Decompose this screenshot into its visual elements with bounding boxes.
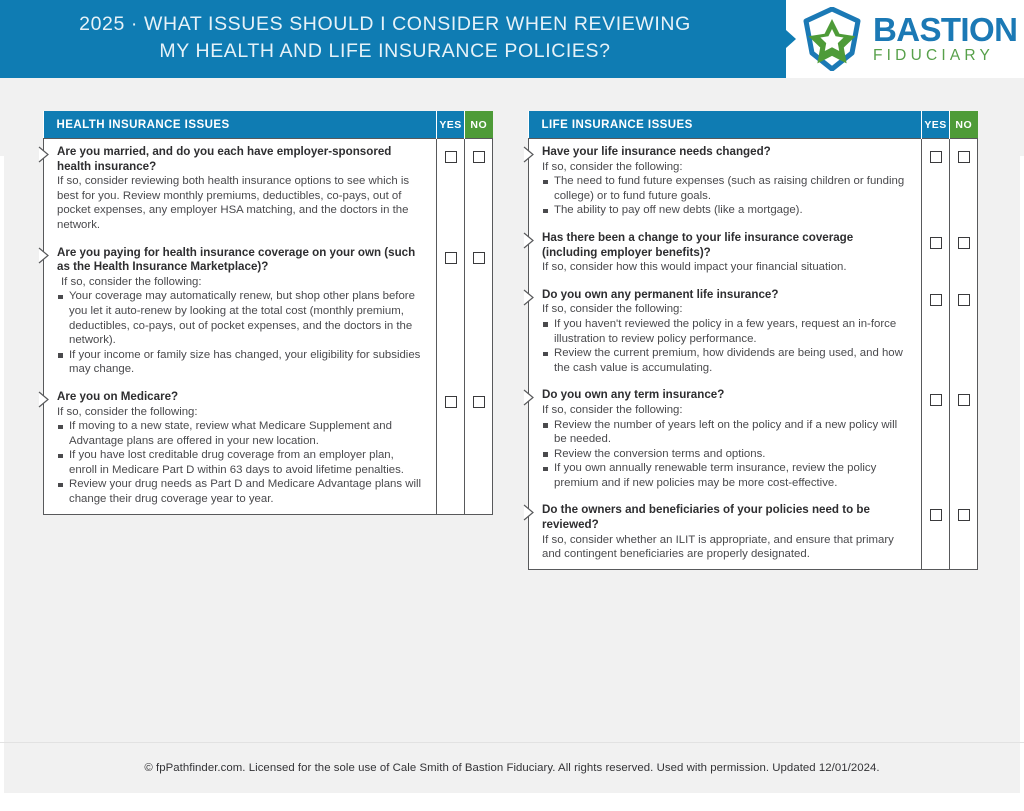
list-item: Review the number of years left on the p… [542, 418, 909, 447]
question-lead: If so, consider reviewing both health in… [57, 174, 424, 232]
checkbox-yes[interactable] [930, 509, 942, 521]
yes-checkbox-cell[interactable] [922, 497, 950, 569]
table-row: Has there been a change to your life ins… [529, 225, 978, 282]
table-header-row: HEALTH INSURANCE ISSUES YES NO [44, 111, 493, 139]
column-header-issue: LIFE INSURANCE ISSUES [529, 111, 922, 139]
question-cell: Do the owners and beneficiaries of your … [529, 497, 922, 569]
column-header-yes: YES [922, 111, 950, 139]
question-lead: If so, consider the following: [542, 302, 909, 317]
checkbox-yes[interactable] [930, 237, 942, 249]
table-row: Are you paying for health insurance cove… [44, 240, 493, 384]
question-title: Are you paying for health insurance cove… [57, 246, 424, 275]
chevron-right-icon [522, 146, 535, 163]
chevron-right-icon [37, 146, 50, 163]
no-checkbox-cell[interactable] [465, 139, 493, 240]
checkbox-no[interactable] [958, 151, 970, 163]
checklist-body: HEALTH INSURANCE ISSUES YES NO [0, 78, 1024, 733]
question-cell: Do you own any term insurance? If so, co… [529, 382, 922, 497]
checkbox-no[interactable] [958, 394, 970, 406]
checkbox-yes[interactable] [930, 151, 942, 163]
question-lead: If so, consider the following: [542, 403, 909, 418]
logo-wordmark: BASTION FIDUCIARY [873, 13, 1017, 65]
no-checkbox-cell[interactable] [950, 497, 978, 569]
logo-brand-name: BASTION [873, 13, 1017, 46]
question-cell: Do you own any permanent life insurance?… [529, 282, 922, 383]
question-cell: Are you paying for health insurance cove… [44, 240, 437, 384]
question-bullet-list: If moving to a new state, review what Me… [57, 419, 424, 507]
yes-checkbox-cell[interactable] [437, 384, 465, 514]
logo-brand-subtitle: FIDUCIARY [873, 46, 1017, 65]
checklist-page: 2025 · WHAT ISSUES SHOULD I CONSIDER WHE… [0, 0, 1024, 793]
health-insurance-column: HEALTH INSURANCE ISSUES YES NO [43, 111, 492, 515]
yes-checkbox-cell[interactable] [437, 240, 465, 384]
question-cell: Have your life insurance needs changed? … [529, 139, 922, 225]
list-item: Review your drug needs as Part D and Med… [57, 477, 424, 506]
table-row: Are you married, and do you each have em… [44, 139, 493, 240]
chevron-right-icon [522, 504, 535, 521]
star-shield-icon [800, 7, 864, 71]
checkbox-no[interactable] [473, 151, 485, 163]
checkbox-yes[interactable] [445, 396, 457, 408]
table-row: Do you own any term insurance? If so, co… [529, 382, 978, 497]
table-row: Do the owners and beneficiaries of your … [529, 497, 978, 569]
question-lead: If so, consider the following: [57, 405, 424, 420]
no-checkbox-cell[interactable] [950, 282, 978, 383]
checkbox-no[interactable] [473, 252, 485, 264]
checkbox-no[interactable] [958, 237, 970, 249]
no-checkbox-cell[interactable] [950, 225, 978, 282]
question-title: Do you own any permanent life insurance? [542, 288, 909, 303]
column-header-no: NO [950, 111, 978, 139]
checkbox-yes[interactable] [445, 252, 457, 264]
column-header-yes: YES [437, 111, 465, 139]
no-checkbox-cell[interactable] [465, 384, 493, 514]
question-title: Are you married, and do you each have em… [57, 145, 424, 174]
no-checkbox-cell[interactable] [950, 382, 978, 497]
question-title: Are you on Medicare? [57, 390, 424, 405]
question-title: Do the owners and beneficiaries of your … [542, 503, 909, 532]
list-item: The ability to pay off new debts (like a… [542, 203, 909, 218]
question-bullet-list: The need to fund future expenses (such a… [542, 174, 909, 218]
yes-checkbox-cell[interactable] [437, 139, 465, 240]
checkbox-no[interactable] [958, 509, 970, 521]
table-header-row: LIFE INSURANCE ISSUES YES NO [529, 111, 978, 139]
question-title: Has there been a change to your life ins… [542, 231, 909, 260]
no-checkbox-cell[interactable] [950, 139, 978, 225]
bastion-fiduciary-logo: BASTION FIDUCIARY [800, 4, 1016, 74]
question-lead: If so, consider the following: [57, 275, 424, 290]
health-insurance-table: HEALTH INSURANCE ISSUES YES NO [43, 111, 493, 515]
header-notch [786, 30, 796, 48]
column-header-no: NO [465, 111, 493, 139]
table-row: Have your life insurance needs changed? … [529, 139, 978, 225]
question-cell: Are you married, and do you each have em… [44, 139, 437, 240]
list-item: If you haven't reviewed the policy in a … [542, 317, 909, 346]
chevron-right-icon [37, 391, 50, 408]
life-rows-body: Have your life insurance needs changed? … [529, 139, 978, 570]
question-cell: Are you on Medicare? If so, consider the… [44, 384, 437, 514]
list-item: The need to fund future expenses (such a… [542, 174, 909, 203]
footer-legal-text: © fpPathfinder.com. Licensed for the sol… [0, 762, 1024, 774]
question-title: Do you own any term insurance? [542, 388, 909, 403]
page-header: 2025 · WHAT ISSUES SHOULD I CONSIDER WHE… [0, 0, 1024, 78]
life-insurance-column: LIFE INSURANCE ISSUES YES NO [528, 111, 977, 570]
question-lead: If so, consider how this would impact yo… [542, 260, 909, 275]
question-bullet-list: Review the number of years left on the p… [542, 418, 909, 491]
checkbox-yes[interactable] [445, 151, 457, 163]
table-row: Are you on Medicare? If so, consider the… [44, 384, 493, 514]
no-checkbox-cell[interactable] [465, 240, 493, 384]
checkbox-no[interactable] [958, 294, 970, 306]
column-header-issue: HEALTH INSURANCE ISSUES [44, 111, 437, 139]
chevron-right-icon [522, 289, 535, 306]
question-bullet-list: Your coverage may automatically renew, b… [57, 289, 424, 377]
yes-checkbox-cell[interactable] [922, 225, 950, 282]
question-cell: Has there been a change to your life ins… [529, 225, 922, 282]
question-lead: If so, consider the following: [542, 160, 909, 175]
health-rows-body: Are you married, and do you each have em… [44, 139, 493, 515]
list-item: Review the conversion terms and options. [542, 447, 909, 462]
list-item: If your income or family size has change… [57, 348, 424, 377]
life-insurance-table: LIFE INSURANCE ISSUES YES NO [528, 111, 978, 570]
page-title: 2025 · WHAT ISSUES SHOULD I CONSIDER WHE… [0, 11, 770, 65]
page-title-line-2: MY HEALTH AND LIFE INSURANCE POLICIES? [0, 38, 770, 65]
list-item: Review the current premium, how dividend… [542, 346, 909, 375]
yes-checkbox-cell[interactable] [922, 382, 950, 497]
question-bullet-list: If you haven't reviewed the policy in a … [542, 317, 909, 375]
checkbox-no[interactable] [473, 396, 485, 408]
checkbox-yes[interactable] [930, 294, 942, 306]
footer-divider [0, 742, 1024, 743]
list-item: If you have lost creditable drug coverag… [57, 448, 424, 477]
chevron-right-icon [522, 232, 535, 249]
chevron-right-icon [37, 247, 50, 264]
question-lead: If so, consider whether an ILIT is appro… [542, 533, 909, 562]
list-item: If moving to a new state, review what Me… [57, 419, 424, 448]
checkbox-yes[interactable] [930, 394, 942, 406]
yes-checkbox-cell[interactable] [922, 139, 950, 225]
chevron-right-icon [522, 389, 535, 406]
list-item: If you own annually renewable term insur… [542, 461, 909, 490]
list-item: Your coverage may automatically renew, b… [57, 289, 424, 347]
page-title-line-1: 2025 · WHAT ISSUES SHOULD I CONSIDER WHE… [0, 11, 770, 38]
yes-checkbox-cell[interactable] [922, 282, 950, 383]
table-row: Do you own any permanent life insurance?… [529, 282, 978, 383]
question-title: Have your life insurance needs changed? [542, 145, 909, 160]
